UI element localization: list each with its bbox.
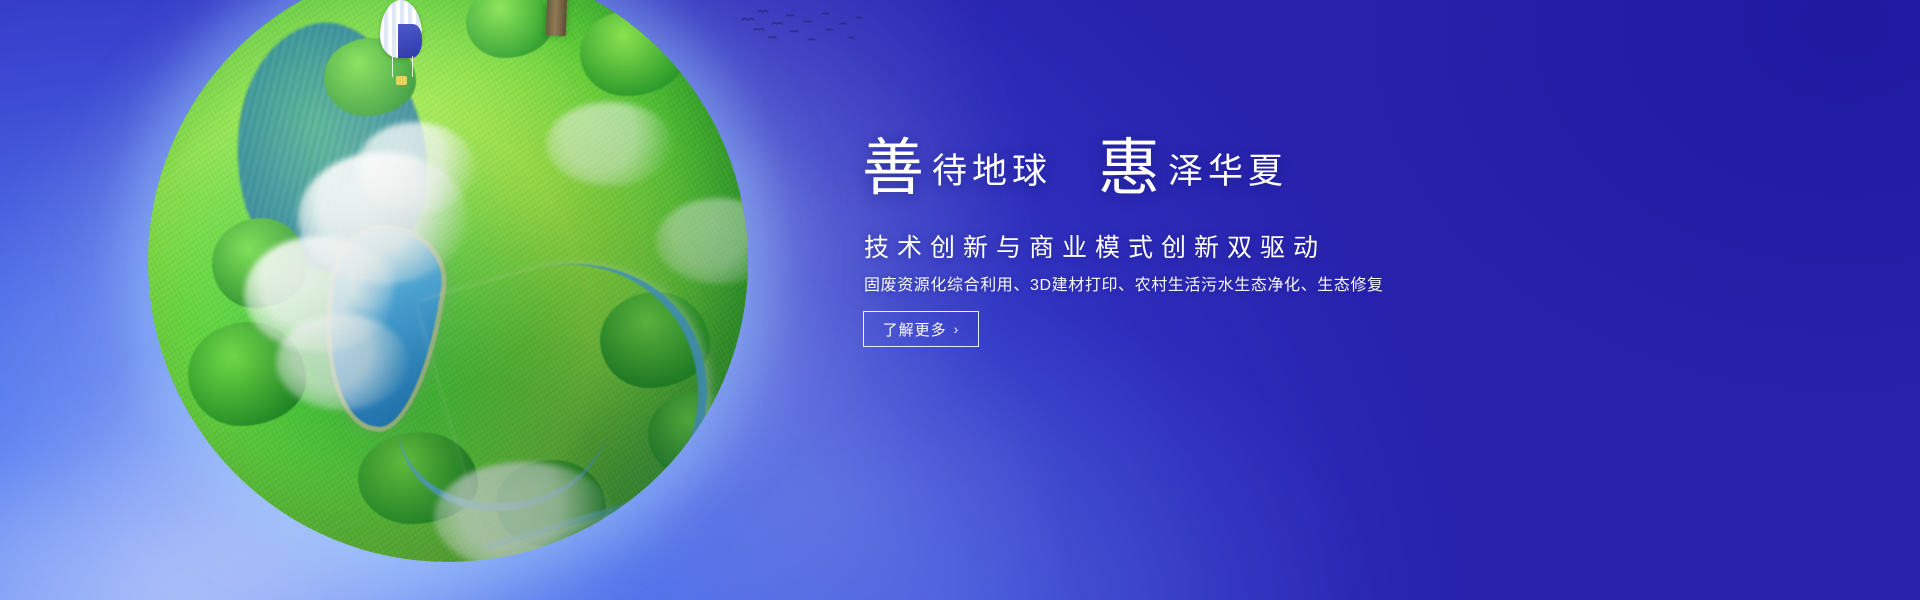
hot-air-balloon-icon <box>380 0 422 86</box>
tiny-planet-illustration <box>148 0 748 562</box>
lake <box>313 223 448 433</box>
balloon-envelope <box>380 0 422 58</box>
tree-trunk <box>546 0 570 36</box>
description: 固废资源化综合利用、3D建材打印、农村生活污水生态净化、生态修复 <box>864 271 1624 295</box>
bird-flock-icon <box>738 8 868 52</box>
headline-big-char: 惠 <box>1098 131 1160 204</box>
forest-clump <box>358 432 478 524</box>
hero-banner: 善待地球 惠泽华夏 技术创新与商业模式创新双驱动 固废资源化综合利用、3D建材打… <box>0 0 1920 600</box>
headline-small-chars: 待地球 <box>932 152 1052 192</box>
headline-segment-1: 善待地球 <box>862 137 1052 199</box>
cloud <box>356 122 476 214</box>
cloud <box>298 152 468 284</box>
balloon-ropes <box>392 56 413 77</box>
chevron-right-icon: › <box>954 322 960 336</box>
headline-small-chars: 泽华夏 <box>1168 152 1288 192</box>
learn-more-label: 了解更多 <box>883 319 947 340</box>
forest-clump <box>212 218 308 308</box>
learn-more-button[interactable]: 了解更多 › <box>863 311 979 347</box>
river-branch <box>390 343 615 522</box>
forest-clump <box>600 292 710 388</box>
cloud <box>434 462 614 562</box>
subtitle: 技术创新与商业模式创新双驱动 <box>864 228 1564 264</box>
balloon-basket <box>396 76 407 85</box>
tree <box>440 0 690 32</box>
forest-clump <box>188 322 306 426</box>
cloud <box>276 314 408 410</box>
cloud <box>656 198 748 284</box>
headline-segment-2: 惠泽华夏 <box>1098 137 1288 199</box>
headline-big-char: 善 <box>862 131 924 204</box>
banner-text-block: 善待地球 惠泽华夏 技术创新与商业模式创新双驱动 固废资源化综合利用、3D建材打… <box>862 0 1562 600</box>
cloud <box>244 236 394 352</box>
headline: 善待地球 惠泽华夏 <box>862 137 1562 219</box>
cloud <box>546 102 674 186</box>
